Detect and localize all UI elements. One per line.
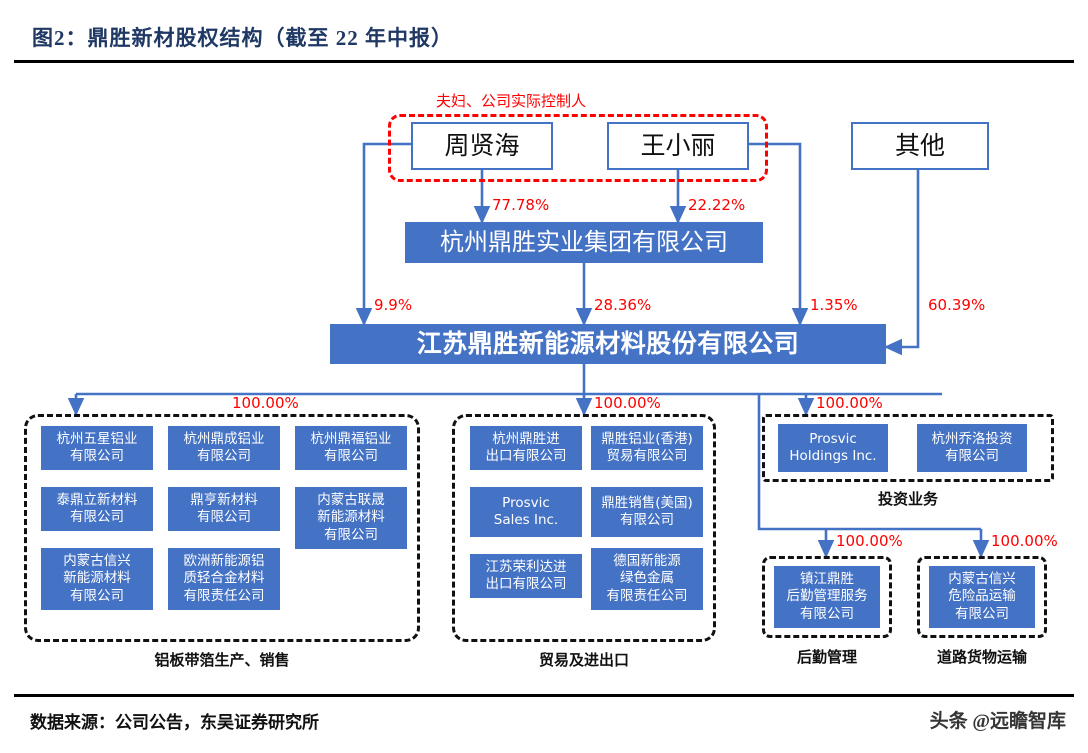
percent-group-to-main: 28.36% — [594, 296, 651, 314]
percent-segment-investment: 100.00% — [816, 394, 883, 412]
chip-company[interactable]: Prosvic Sales Inc. — [470, 487, 582, 537]
chip-company[interactable]: 内蒙古信兴 危险品运输 有限公司 — [929, 566, 1035, 628]
title-divider-top — [14, 60, 1074, 63]
node-jiangsu-dingsheng-main[interactable]: 江苏鼎胜新能源材料股份有限公司 — [330, 324, 886, 364]
percent-zhou-to-group: 77.78% — [492, 196, 549, 214]
percent-segment-trade: 100.00% — [594, 394, 661, 412]
segment-label-aluminum: 铝板带箔生产、销售 — [24, 649, 420, 670]
segment-label-trade: 贸易及进出口 — [452, 649, 716, 670]
chip-company[interactable]: 杭州鼎成铝业 有限公司 — [168, 426, 280, 470]
chip-company[interactable]: 鼎胜销售(美国) 有限公司 — [591, 487, 703, 537]
segment-label-transport: 道路货物运输 — [917, 646, 1047, 667]
chip-company[interactable]: 杭州乔洛投资 有限公司 — [917, 424, 1027, 472]
chip-company[interactable]: 杭州五星铝业 有限公司 — [41, 426, 153, 470]
node-other[interactable]: 其他 — [851, 122, 989, 170]
chip-company[interactable]: 欧洲新能源铝 质轻合金材料 有限责任公司 — [168, 548, 280, 610]
segment-label-investment: 投资业务 — [762, 488, 1054, 509]
source-note: 数据来源：公司公告，东吴证券研究所 — [30, 708, 319, 733]
percent-segment-logistics: 100.00% — [836, 532, 903, 550]
percent-wang-to-group: 22.22% — [688, 196, 745, 214]
percent-segment-transport: 100.00% — [991, 532, 1058, 550]
node-wang-xiaoli[interactable]: 王小丽 — [607, 122, 749, 170]
chip-company[interactable]: 内蒙古信兴 新能源材料 有限公司 — [41, 548, 153, 610]
footer-divider — [14, 694, 1074, 697]
chip-company[interactable]: 杭州鼎福铝业 有限公司 — [295, 426, 407, 470]
node-hangzhou-dingsheng-group[interactable]: 杭州鼎胜实业集团有限公司 — [405, 222, 763, 263]
chip-company[interactable]: 内蒙古联晟 新能源材料 有限公司 — [295, 487, 407, 549]
chip-company[interactable]: 鼎亨新材料 有限公司 — [168, 487, 280, 531]
chip-company[interactable]: 鼎胜铝业(香港) 贸易有限公司 — [591, 426, 703, 470]
percent-other-to-main: 60.39% — [928, 296, 985, 314]
percent-zhou-to-main: 9.9% — [374, 296, 412, 314]
percent-wang-to-main: 1.35% — [810, 296, 858, 314]
chip-company[interactable]: 杭州鼎胜进 出口有限公司 — [470, 426, 582, 470]
chip-company[interactable]: 镇江鼎胜 后勤管理服务 有限公司 — [774, 566, 880, 628]
percent-segment-aluminum: 100.00% — [232, 394, 299, 412]
page-title: 图2：鼎胜新材股权结构（截至 22 年中报） — [32, 22, 453, 52]
controller-note: 夫妇、公司实际控制人 — [436, 90, 586, 111]
node-zhou-xianhai[interactable]: 周贤海 — [411, 122, 553, 170]
chip-company[interactable]: Prosvic Holdings Inc. — [778, 424, 888, 472]
chip-company[interactable]: 江苏荣利达进 出口有限公司 — [470, 554, 582, 598]
chip-company[interactable]: 德国新能源 绿色金属 有限责任公司 — [591, 548, 703, 610]
segment-label-logistics: 后勤管理 — [762, 646, 892, 667]
watermark-label: 头条 @远瞻智库 — [930, 706, 1066, 733]
chip-company[interactable]: 泰鼎立新材料 有限公司 — [41, 487, 153, 531]
figure-page: 图2：鼎胜新材股权结构（截至 22 年中报） — [0, 0, 1088, 753]
org-chart-canvas: 夫妇、公司实际控制人 周贤海 王小丽 其他 77.78% 22.22% 9.9%… — [0, 64, 1088, 694]
